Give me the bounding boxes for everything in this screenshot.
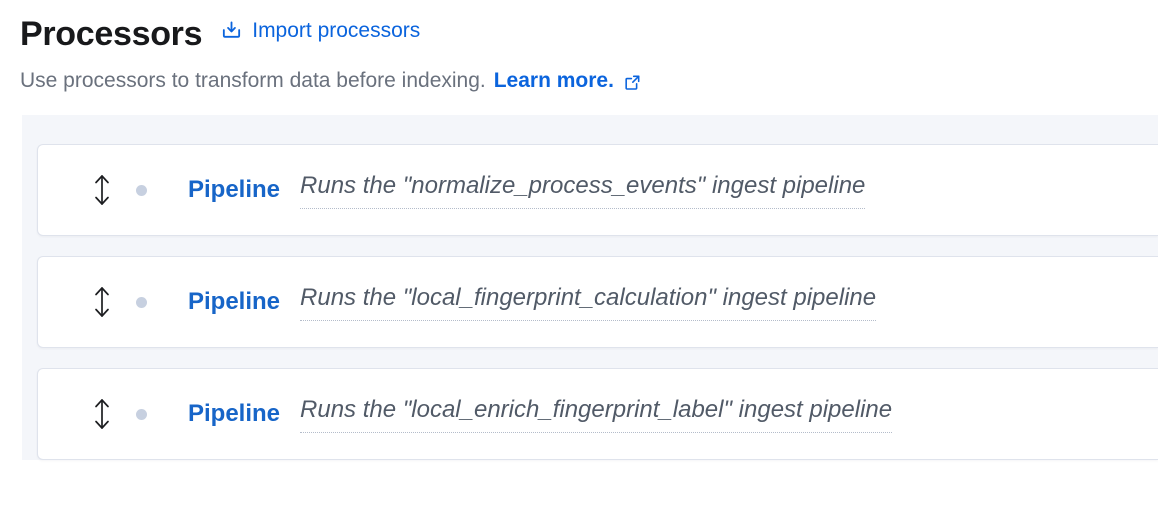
processors-panel: Pipeline Runs the "normalize_process_eve… <box>22 115 1158 460</box>
status-dot-icon <box>136 297 147 308</box>
page-title: Processors <box>20 14 202 54</box>
processor-row[interactable]: Pipeline Runs the "normalize_process_eve… <box>37 144 1158 236</box>
subtitle-text: Use processors to transform data before … <box>20 68 486 94</box>
import-processors-label: Import processors <box>252 18 420 44</box>
page-subtitle: Use processors to transform data before … <box>20 68 1158 94</box>
import-processors-button[interactable]: Import processors <box>220 18 420 44</box>
processor-row[interactable]: Pipeline Runs the "local_fingerprint_cal… <box>37 256 1158 348</box>
processor-type-label[interactable]: Pipeline <box>188 176 280 204</box>
drag-vertical-icon[interactable] <box>76 285 128 319</box>
page-header: Processors Import processors Use process… <box>0 0 1158 94</box>
learn-more-link[interactable]: Learn more. <box>494 68 614 94</box>
processor-type-label[interactable]: Pipeline <box>188 288 280 316</box>
drag-vertical-icon[interactable] <box>76 173 128 207</box>
status-dot-icon <box>136 185 147 196</box>
processor-description[interactable]: Runs the "normalize_process_events" inge… <box>300 171 865 209</box>
drag-vertical-icon[interactable] <box>76 397 128 431</box>
external-link-icon[interactable] <box>623 73 642 92</box>
title-row: Processors Import processors <box>20 14 1158 54</box>
processor-description[interactable]: Runs the "local_enrich_fingerprint_label… <box>300 395 892 433</box>
import-tray-icon <box>220 19 243 42</box>
status-dot-icon <box>136 409 147 420</box>
processor-description[interactable]: Runs the "local_fingerprint_calculation"… <box>300 283 876 321</box>
processor-row[interactable]: Pipeline Runs the "local_enrich_fingerpr… <box>37 368 1158 460</box>
processor-type-label[interactable]: Pipeline <box>188 400 280 428</box>
